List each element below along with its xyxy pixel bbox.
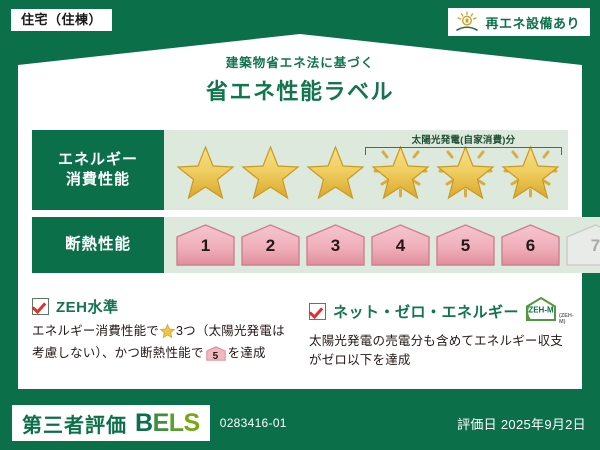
nze-checkbox[interactable] <box>309 303 326 320</box>
renewable-badge-label: 再エネ設備あり <box>485 13 580 32</box>
energy-performance-label: 住宅（住棟） 再エネ設備あり 建築物省エネ法に基づく 省エネ性能ラベル <box>0 0 600 450</box>
zeh-m-logo: ZEH-M (ZEH-M) <box>524 296 574 327</box>
evaluation-date-label: 評価日 <box>457 417 497 432</box>
renewable-equipment-badge: 再エネ設備あり <box>448 8 590 36</box>
zeh-standard-check: ZEH水準 エネルギー消費性能で3つ（太陽光発電は考慮しない）、かつ断熱性能で5… <box>32 296 291 371</box>
insulation-performance-label-block: 断熱性能 <box>32 217 164 273</box>
star-5 <box>434 138 497 200</box>
insulation-badges: 1 2 3 <box>164 219 600 271</box>
insulation-rating-area: 1 2 3 <box>164 217 600 273</box>
evaluation-date-value: 2025年9月2日 <box>501 417 586 432</box>
star-rating <box>164 138 568 202</box>
zeh-desc-part3: を達成 <box>228 346 266 360</box>
star-4 <box>369 138 432 200</box>
star-3 <box>304 138 367 200</box>
star-6 <box>499 138 562 200</box>
energy-performance-row: エネルギー 消費性能 <box>32 130 568 210</box>
energy-label-line2: 消費性能 <box>66 170 130 190</box>
nze-check-header: ネット・ゼロ・エネルギー ZEH-M (ZEH-M) <box>309 296 568 327</box>
net-zero-energy-check: ネット・ゼロ・エネルギー ZEH-M (ZEH-M) 太陽光発電の売電分も含めて… <box>309 296 568 371</box>
star-2 <box>239 138 302 200</box>
insulation-level-badge-inline: 5 <box>206 346 226 361</box>
insulation-performance-row: 断熱性能 1 2 <box>32 217 568 273</box>
insulation-badge-4: 4 <box>369 223 432 267</box>
page-title: 省エネ性能ラベル <box>0 74 600 106</box>
energy-label-line1: エネルギー <box>58 150 138 170</box>
insulation-badge-value: 5 <box>434 236 497 256</box>
zeh-m-logo-caption: (ZEH-M) <box>559 313 574 327</box>
insulation-badge-value: 7 <box>564 236 600 256</box>
zeh-m-house-icon: ZEH-M <box>524 296 558 327</box>
energy-performance-label-block: エネルギー 消費性能 <box>32 130 164 210</box>
insulation-badge-3: 3 <box>304 223 367 267</box>
insulation-badge-7: 7 <box>564 223 600 267</box>
nze-check-description: 太陽光発電の売電分も含めてエネルギー収支がゼロ以下を達成 <box>309 332 568 371</box>
zeh-checkbox[interactable] <box>32 298 49 315</box>
bels-logo-text: BELS <box>135 411 200 436</box>
insulation-badge-value: 4 <box>369 236 432 256</box>
star-icon <box>160 324 175 344</box>
zeh-check-title: ZEH水準 <box>56 296 119 317</box>
insulation-badge-5: 5 <box>434 223 497 267</box>
achievement-checks: ZEH水準 エネルギー消費性能で3つ（太陽光発電は考慮しない）、かつ断熱性能で5… <box>32 296 568 371</box>
inline-badge-value: 5 <box>206 349 226 365</box>
insulation-badge-value: 3 <box>304 236 367 256</box>
building-type-tag: 住宅（住棟） <box>10 8 113 32</box>
insulation-badge-1: 1 <box>174 223 237 267</box>
svg-text:ZEH-M: ZEH-M <box>528 306 554 315</box>
insulation-label: 断熱性能 <box>65 235 131 256</box>
bels-logo-box: 第三者評価 BELS <box>12 405 210 441</box>
rating-rows: エネルギー 消費性能 <box>32 130 568 280</box>
title-block: 建築物省エネ法に基づく 省エネ性能ラベル <box>0 52 600 106</box>
nze-check-title: ネット・ゼロ・エネルギー <box>333 301 519 322</box>
insulation-badge-value: 6 <box>499 236 562 256</box>
insulation-badge-2: 2 <box>239 223 302 267</box>
zeh-check-header: ZEH水準 <box>32 296 291 317</box>
star-1 <box>174 138 237 200</box>
title-subtitle: 建築物省エネ法に基づく <box>0 52 600 71</box>
sun-icon <box>454 11 480 33</box>
insulation-badge-value: 1 <box>174 236 237 256</box>
evaluation-date: 評価日 2025年9月2日 <box>457 414 586 433</box>
bels-footer: 第三者評価 BELS 0283416-01 評価日 2025年9月2日 <box>0 396 600 450</box>
insulation-badge-6: 6 <box>499 223 562 267</box>
energy-rating-area: 太陽光発電(自家消費)分 <box>164 130 568 210</box>
third-party-label: 第三者評価 <box>22 409 127 438</box>
zeh-desc-part1: エネルギー消費性能で <box>32 324 159 338</box>
insulation-badge-value: 2 <box>239 236 302 256</box>
zeh-check-description: エネルギー消費性能で3つ（太陽光発電は考慮しない）、かつ断熱性能で5を達成 <box>32 322 291 364</box>
certificate-number: 0283416-01 <box>220 416 287 430</box>
